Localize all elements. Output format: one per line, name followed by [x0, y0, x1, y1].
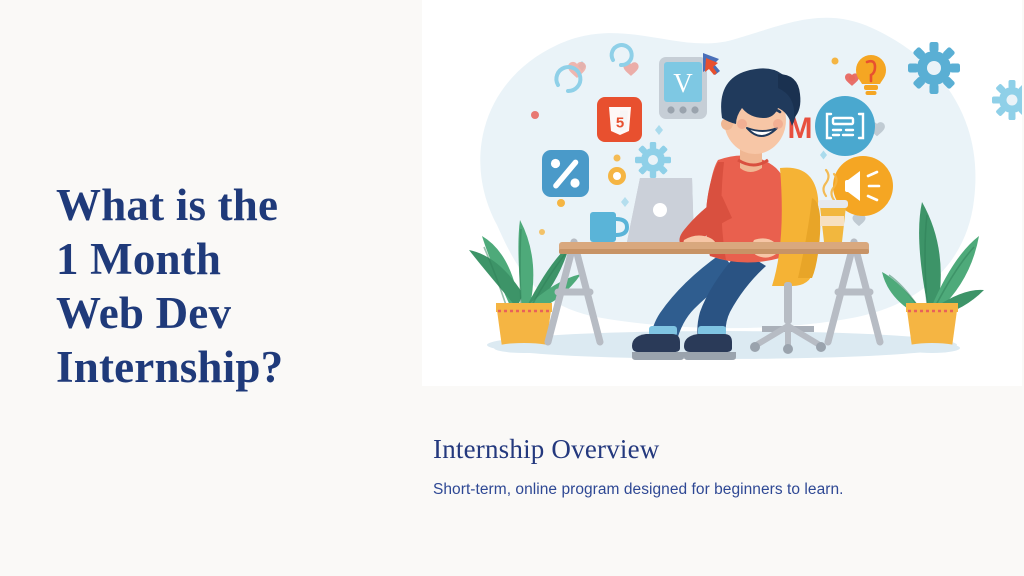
gear-icon [635, 142, 671, 178]
gear-icon [992, 80, 1022, 120]
small-flower-icon [608, 167, 626, 185]
caption-subtitle: Short-term, online program designed for … [433, 479, 993, 501]
gear-icon [908, 42, 960, 94]
desk-top [559, 242, 869, 254]
html5-label: 5 [616, 115, 624, 132]
left-heading-pane: What is the 1 Month Web Dev Internship? [0, 0, 422, 576]
html5-icon: 5 [597, 97, 642, 142]
caption-heading: Internship Overview [433, 432, 993, 466]
css-percent-icon [542, 150, 589, 197]
developer-illustration: Young developer smiling while typing on … [422, 0, 1022, 386]
caption-block: Internship Overview Short-term, online p… [433, 432, 993, 501]
slide-root: What is the 1 Month Web Dev Internship? … [0, 0, 1024, 576]
code-layout-icon [815, 96, 875, 156]
browser-v-label: V [673, 68, 693, 98]
page-title: What is the 1 Month Web Dev Internship? [56, 178, 396, 394]
illustration-card: Young developer smiling while typing on … [422, 0, 1022, 386]
